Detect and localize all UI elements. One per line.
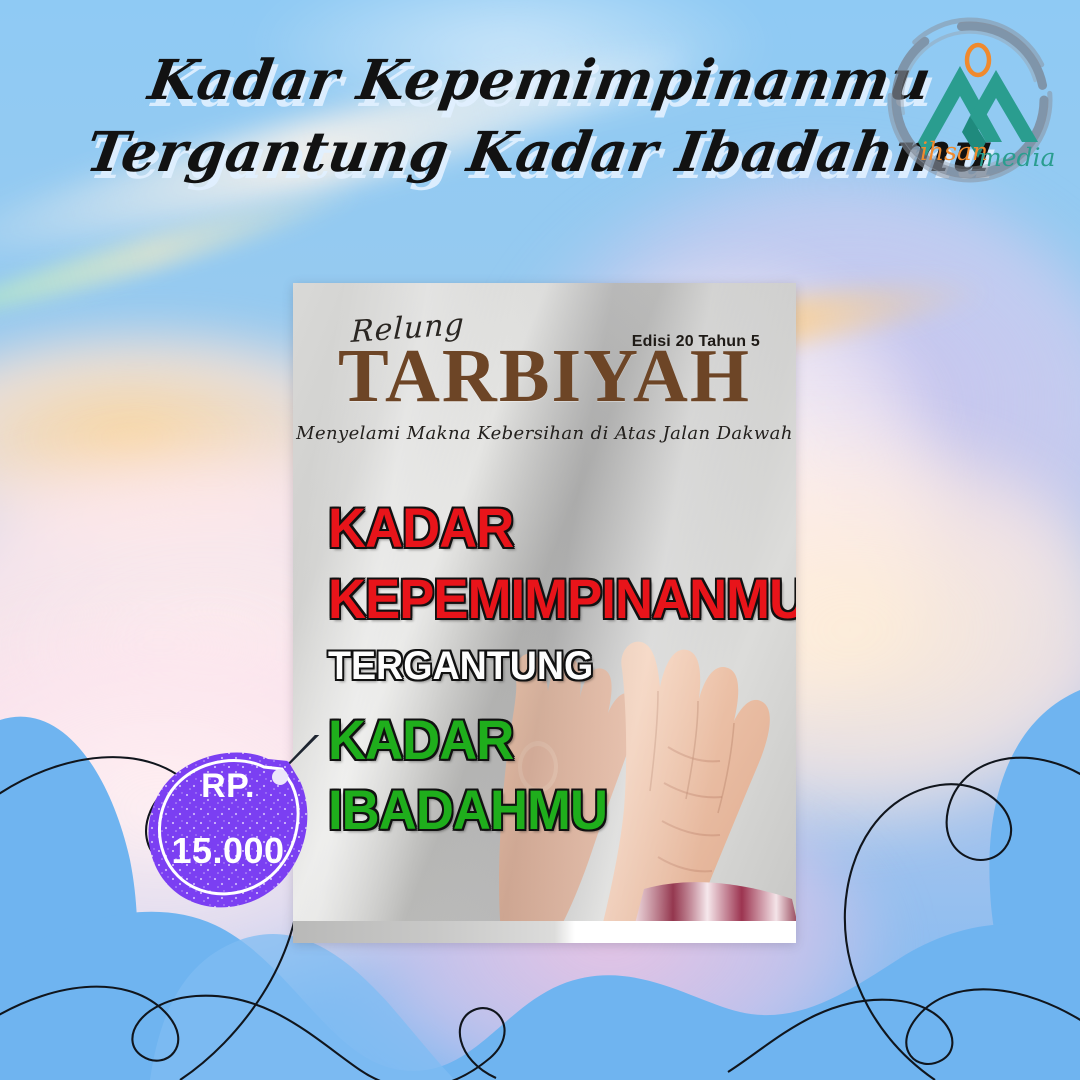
magazine-cover[interactable]: Relung Edisi 20 Tahun 5 TARBIYAH Menyela… xyxy=(293,283,796,943)
cover-bottom-band xyxy=(293,921,796,943)
logo-word-media: media xyxy=(978,143,1055,172)
logo-orange-ring xyxy=(967,45,989,75)
masthead-tagline: Menyelami Makna Kebersihan di Atas Jalan… xyxy=(293,423,796,444)
cover-line-1: KADAR xyxy=(328,495,513,560)
cover-line-3: TERGANTUNG xyxy=(328,644,593,689)
brand-logo[interactable]: ihsan media xyxy=(874,8,1066,200)
poster-canvas: Kadar Kepemimpinanmu Tergantung Kadar Ib… xyxy=(0,0,1080,1080)
cover-line-5: IBADAHMU xyxy=(328,777,607,842)
cover-line-4: KADAR xyxy=(328,707,513,772)
tag-hole xyxy=(272,769,288,785)
price-tag[interactable]: RP. 15.000 xyxy=(128,735,328,935)
cover-line-2: KEPEMIMPINANMU xyxy=(328,566,796,631)
masthead-title: TARBIYAH xyxy=(293,338,796,414)
